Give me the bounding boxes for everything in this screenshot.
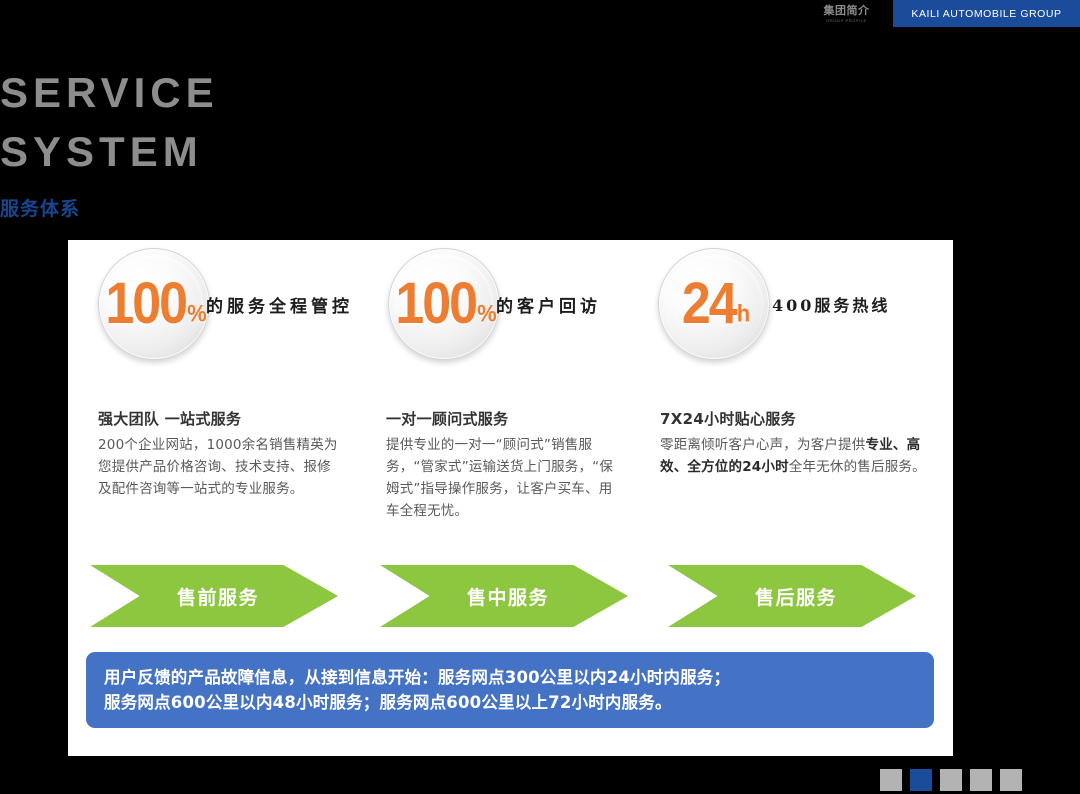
stage-arrow-label: 售前服务: [177, 583, 259, 610]
badge-number-unit: h: [737, 302, 748, 326]
column-heading: 一对一顾问式服务: [386, 408, 626, 429]
badge-number-unit: %: [187, 302, 205, 326]
badge-label: 的服务全程管控: [206, 292, 353, 317]
title-english-line1: SERVICE: [0, 72, 480, 115]
brand-name-label: KAILI AUTOMOBILE GROUP: [911, 8, 1061, 20]
pager-dot-5[interactable]: [1000, 769, 1022, 791]
badge-number-unit: %: [477, 302, 495, 326]
page-header: 集团简介 GROUP PROFILE KAILI AUTOMOBILE GROU…: [800, 0, 1080, 28]
badge-number: 100 %: [395, 278, 494, 330]
description-column: 强大团队 一站式服务 200个企业网站，1000余名销售精英为您提供产品价格咨询…: [98, 408, 338, 501]
description-column: 7X24小时贴心服务 零距离倾听客户心声，为客户提供专业、高效、全方位的24小时…: [660, 408, 928, 479]
page-title: SERVICE SYSTEM 服务体系: [0, 72, 480, 221]
badge-number-value: 100: [395, 275, 476, 334]
badge-circle: 100 %: [388, 248, 500, 360]
note-line-1: 用户反馈的产品故障信息，从接到信息开始：服务网点300公里以内24小时内服务；: [104, 665, 916, 690]
badge-circle: 24 h: [658, 248, 770, 360]
badge-row: 100 % 的服务全程管控 100 % 的客户回访 24 h: [68, 240, 953, 400]
column-heading: 强大团队 一站式服务: [98, 408, 338, 429]
stage-arrow-row: 售前服务 售中服务 售后服务: [68, 565, 953, 637]
pager-dot-4[interactable]: [970, 769, 992, 791]
badge-label: 400服务热线: [772, 292, 890, 316]
badge-number: 24 h: [682, 278, 748, 330]
stage-arrow-during-sales[interactable]: 售中服务: [380, 565, 628, 627]
pager-dot-2[interactable]: [910, 769, 932, 791]
description-column: 一对一顾问式服务 提供专业的一对一“顾问式”销售服务，“管家式”运输送货上门服务…: [386, 408, 626, 522]
brand-banner: KAILI AUTOMOBILE GROUP: [893, 0, 1080, 27]
title-chinese: 服务体系: [0, 194, 480, 221]
column-heading: 7X24小时贴心服务: [660, 408, 928, 429]
description-columns: 强大团队 一站式服务 200个企业网站，1000余名销售精英为您提供产品价格咨询…: [68, 408, 953, 558]
column-body-pre: 零距离倾听客户心声，为客户提供: [660, 437, 866, 453]
pager-dot-1[interactable]: [880, 769, 902, 791]
logo-chinese-text: 集团简介: [824, 5, 870, 16]
stage-arrow-label: 售中服务: [467, 583, 549, 610]
content-panel: 100 % 的服务全程管控 100 % 的客户回访 24 h: [68, 240, 953, 756]
service-commitment-banner: 用户反馈的产品故障信息，从接到信息开始：服务网点300公里以内24小时内服务； …: [86, 652, 934, 728]
badge-number: 100 %: [105, 278, 204, 330]
badge-item: 100 % 的服务全程管控: [98, 248, 353, 360]
title-english-line2: SYSTEM: [0, 131, 480, 174]
column-body: 提供专业的一对一“顾问式”销售服务，“管家式”运输送货上门服务，“保姆式”指导操…: [386, 435, 626, 522]
column-body-post: 全年无休的售后服务。: [789, 459, 926, 475]
badge-label: 的客户回访: [496, 292, 601, 317]
column-body: 200个企业网站，1000余名销售精英为您提供产品价格咨询、技术支持、报修及配件…: [98, 435, 338, 501]
slide-pager[interactable]: [880, 769, 1022, 791]
stage-arrow-pre-sales[interactable]: 售前服务: [90, 565, 338, 627]
badge-circle: 100 %: [98, 248, 210, 360]
badge-item: 24 h 400服务热线: [658, 248, 890, 360]
column-body: 零距离倾听客户心声，为客户提供专业、高效、全方位的24小时全年无休的售后服务。: [660, 435, 928, 479]
logo-english-text: GROUP PROFILE: [826, 19, 867, 23]
stage-arrow-after-sales[interactable]: 售后服务: [668, 565, 916, 627]
badge-number-value: 100: [105, 275, 186, 334]
stage-arrow-label: 售后服务: [755, 583, 837, 610]
badge-number-value: 24: [682, 275, 736, 334]
badge-item: 100 % 的客户回访: [388, 248, 601, 360]
note-line-2: 服务网点600公里以内48小时服务；服务网点600公里以上72小时内服务。: [104, 690, 916, 715]
group-profile-logo: 集团简介 GROUP PROFILE: [800, 0, 893, 28]
pager-dot-3[interactable]: [940, 769, 962, 791]
